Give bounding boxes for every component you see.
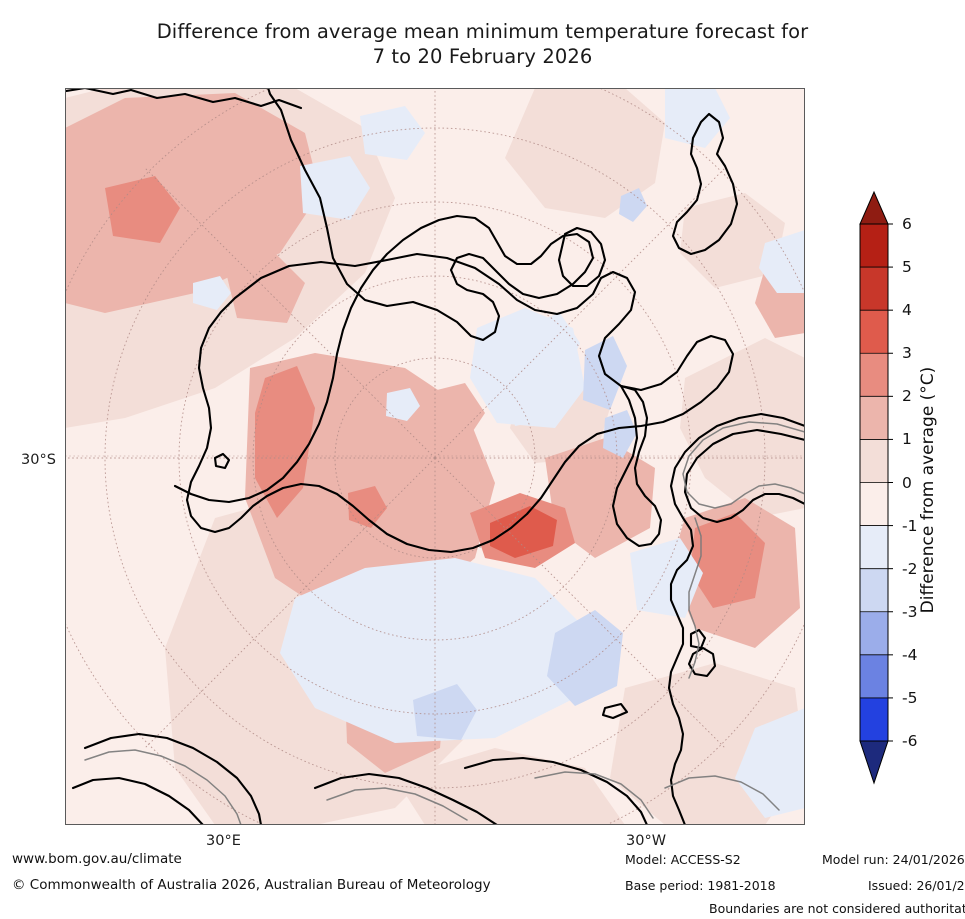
colorbar-band	[860, 396, 888, 440]
model-name: Model: ACCESS-S2	[625, 852, 741, 867]
axis-label-lon-30e: 30°E	[206, 833, 241, 849]
boundaries-disclaimer: Boundaries are not considered authoritat…	[709, 901, 965, 916]
colorbar-tick-label: 0	[902, 474, 912, 492]
title-line-2: 7 to 20 February 2026	[0, 45, 965, 70]
issued-date: Issued: 26/01/2026	[868, 878, 965, 893]
axis-label-lat-30s: 30°S	[21, 452, 56, 468]
colorbar-tick-label: -6	[902, 732, 917, 750]
colorbar-band	[860, 353, 888, 397]
colorbar-band	[860, 612, 888, 656]
colorbar-tick-label: -3	[902, 603, 917, 621]
colorbar-tick-label: -1	[902, 517, 917, 535]
colorbar-band	[860, 439, 888, 483]
colorbar-band	[860, 267, 888, 311]
colorbar-tick-label: 6	[902, 215, 912, 233]
colorbar-tick-label: -5	[902, 689, 917, 707]
bom-website-link[interactable]: www.bom.gov.au/climate	[12, 851, 182, 867]
colorbar-extend-bottom	[860, 741, 888, 783]
colorbar-tick-label: 2	[902, 387, 912, 405]
colorbar-band	[860, 569, 888, 613]
copyright-notice: © Commonwealth of Australia 2026, Austra…	[12, 877, 491, 893]
colorbar-band	[860, 310, 888, 354]
forecast-map[interactable]	[65, 88, 805, 825]
axis-label-lon-30w: 30°W	[626, 833, 666, 849]
colorbar-tick-label: -4	[902, 646, 917, 664]
map-canvas	[65, 88, 805, 825]
model-run-date: Model run: 24/01/2026	[822, 852, 965, 867]
colorbar[interactable]: 6543210-1-2-3-4-5-6 Difference from aver…	[858, 190, 963, 790]
title-line-1: Difference from average mean minimum tem…	[0, 20, 965, 45]
colorbar-axis-title: Difference from average (°C)	[918, 367, 938, 614]
colorbar-swatches	[858, 190, 902, 790]
colorbar-band	[860, 224, 888, 268]
colorbar-tick-label: -2	[902, 560, 917, 578]
colorbar-tick-label: 4	[902, 301, 912, 319]
colorbar-band	[860, 698, 888, 742]
colorbar-tick-label: 3	[902, 344, 912, 362]
colorbar-extend-top	[860, 192, 888, 224]
colorbar-tick-label: 5	[902, 258, 912, 276]
colorbar-band	[860, 655, 888, 699]
page-title: Difference from average mean minimum tem…	[0, 20, 965, 70]
colorbar-band	[860, 483, 888, 527]
base-period: Base period: 1981-2018	[625, 878, 776, 893]
colorbar-tick-label: 1	[902, 430, 912, 448]
colorbar-band	[860, 526, 888, 570]
